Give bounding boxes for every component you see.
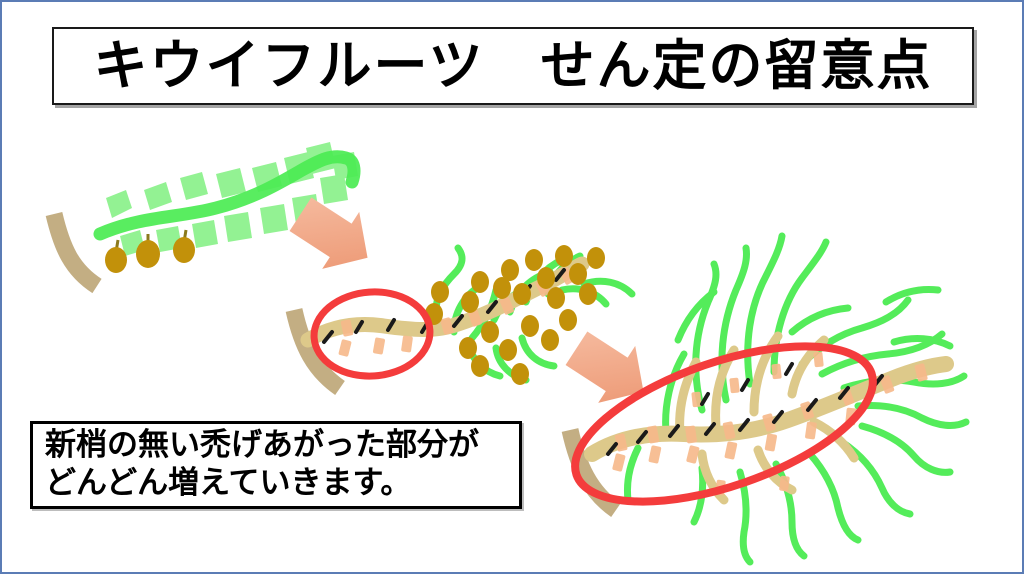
slide-canvas: キウイフルーツ せん定の留意点 新梢の無い禿げあがった部分が どんどん増えていき… — [0, 0, 1024, 574]
title-box: キウイフルーツ せん定の留意点 — [52, 27, 974, 105]
page-title: キウイフルーツ せん定の留意点 — [94, 39, 933, 93]
caption-line-1: 新梢の無い禿げあがった部分が — [45, 427, 509, 465]
stage-1-trunk — [54, 214, 97, 286]
caption-line-2: どんどん増えていきます。 — [45, 465, 509, 503]
caption-box: 新梢の無い禿げあがった部分が どんどん増えていきます。 — [30, 421, 522, 509]
arrow-2 — [558, 320, 662, 421]
